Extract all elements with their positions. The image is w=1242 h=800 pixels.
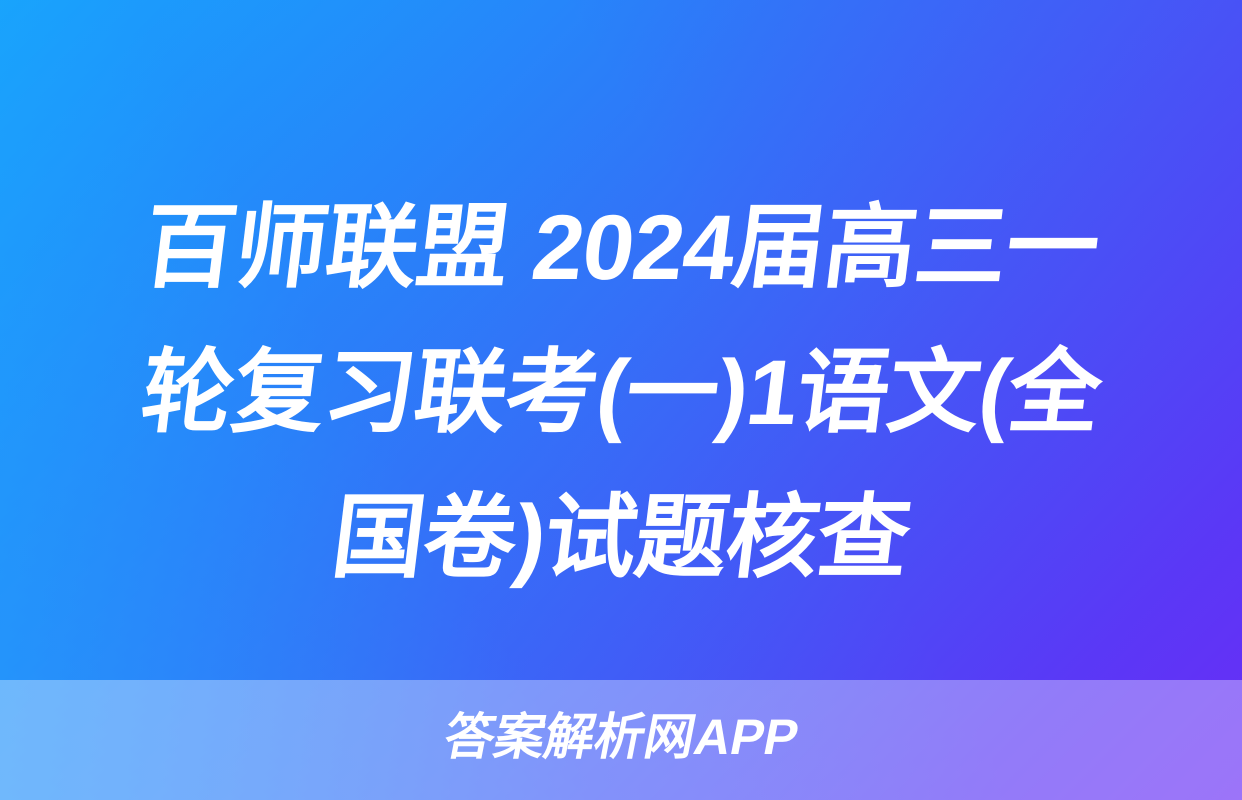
watermark: 答案解析网APP xyxy=(0,702,1242,772)
poster-title: 百师联盟 2024届高三一 轮复习联考(一)1语文(全 国卷)试题核查 xyxy=(0,176,1242,611)
title-line-1: 百师联盟 2024届高三一 xyxy=(63,176,1179,321)
title-line-3: 国卷)试题核查 xyxy=(63,466,1179,611)
watermark-label: 答案解析网APP xyxy=(440,712,803,762)
poster-canvas: 百师联盟 2024届高三一 轮复习联考(一)1语文(全 国卷)试题核查 答案解析… xyxy=(0,0,1242,800)
title-line-2: 轮复习联考(一)1语文(全 xyxy=(63,321,1179,466)
